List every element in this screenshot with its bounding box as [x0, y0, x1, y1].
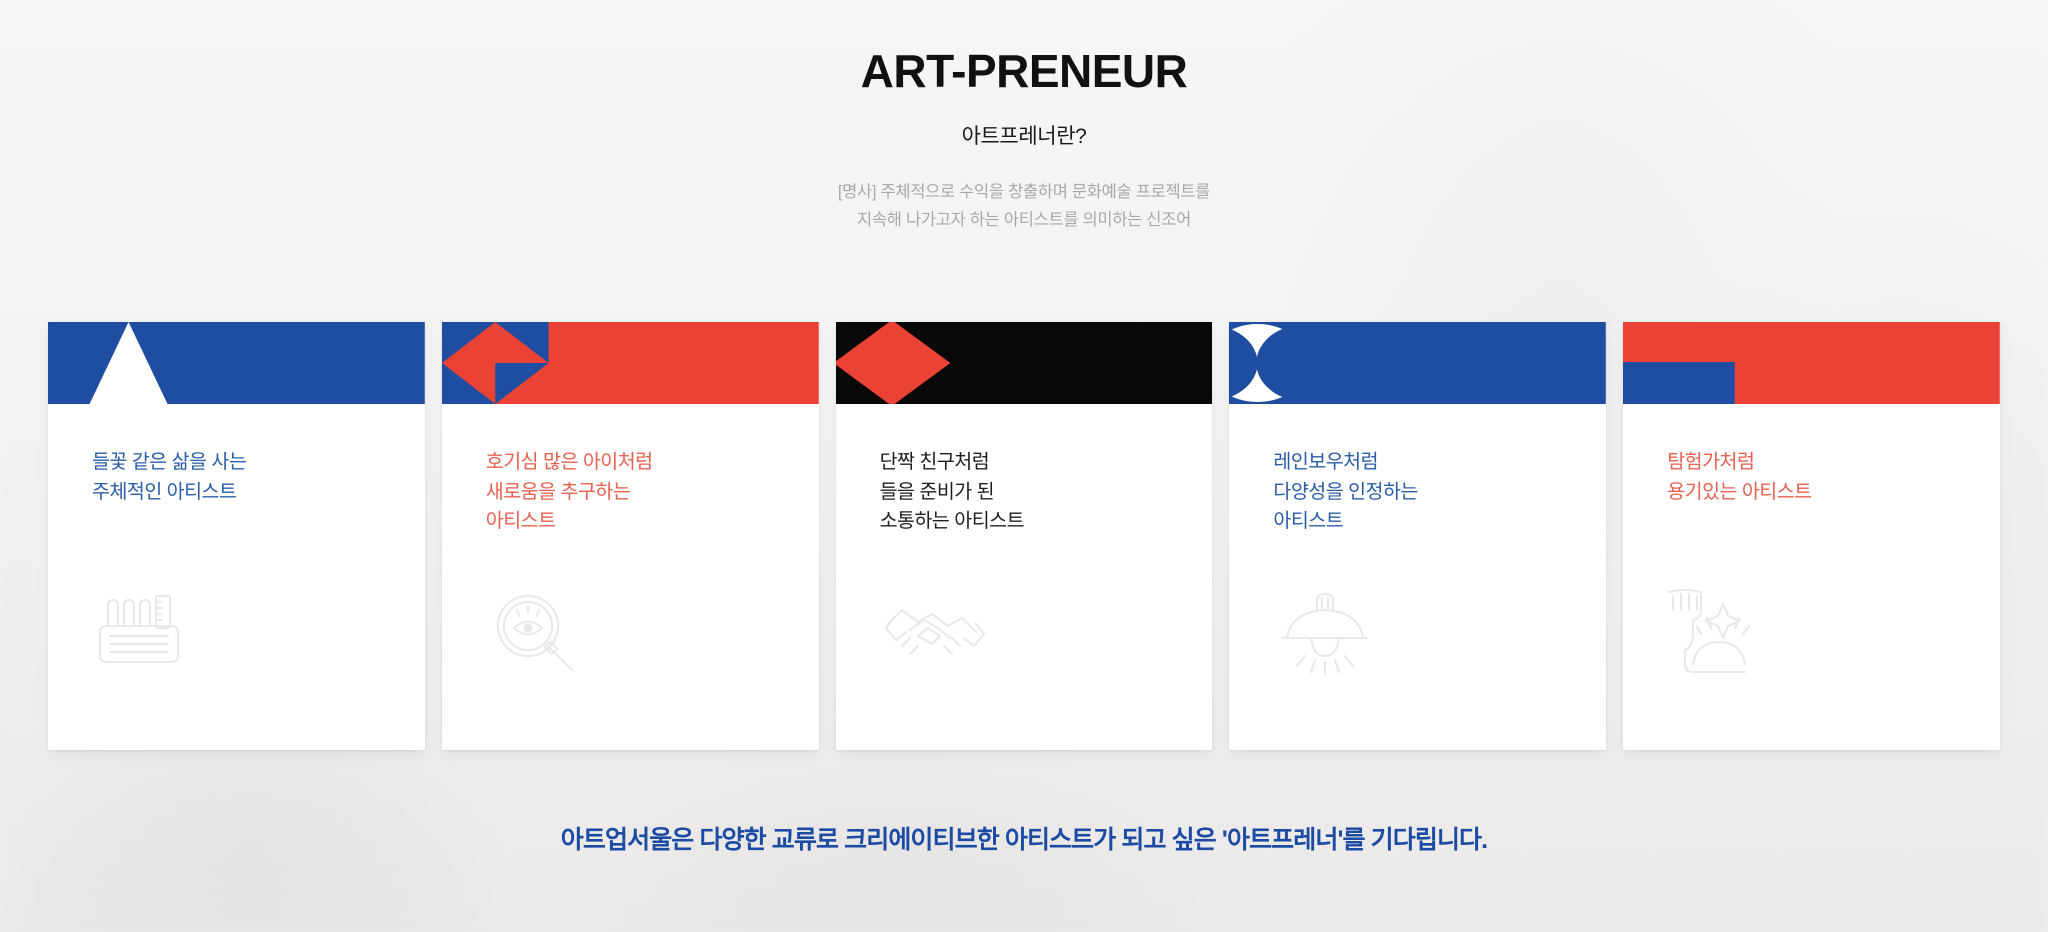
card-body: 단짝 친구처럼 들을 준비가 된 소통하는 아티스트	[836, 404, 1213, 537]
definition-line-2: 지속해 나가고자 하는 아티스트를 의미하는 신조어	[0, 206, 2048, 234]
footer-text: 아트업서울은 다양한 교류로 크리에이티브한 아티스트가 되고 싶은 '아트프레…	[0, 820, 2048, 856]
card-text: 탐험가처럼 용기있는 아티스트	[1667, 448, 1956, 507]
magnifier-eye-icon	[486, 586, 596, 678]
card-text: 들꽃 같은 삶을 사는 주체적인 아티스트	[92, 448, 381, 507]
card-banner	[442, 322, 819, 404]
page-title: ART-PRENEUR	[0, 46, 2048, 98]
card-body: 들꽃 같은 삶을 사는 주체적인 아티스트	[48, 404, 425, 507]
fist-sunrise-icon	[1667, 588, 1777, 680]
card-banner	[1623, 322, 2000, 404]
card-text: 단짝 친구처럼 들을 준비가 된 소통하는 아티스트	[880, 448, 1169, 537]
card-banner	[836, 322, 1213, 404]
card-body: 탐험가처럼 용기있는 아티스트	[1623, 404, 2000, 507]
red-pinwheel-banner-icon	[442, 322, 819, 404]
footer: 아트업서울은 다양한 교류로 크리에이티브한 아티스트가 되고 싶은 '아트프레…	[0, 820, 2048, 856]
definition-line-1: [명사] 주체적으로 수익을 창출하며 문화예술 프로젝트를	[0, 178, 2048, 206]
card-body: 레인보우처럼 다양성을 인정하는 아티스트	[1229, 404, 1606, 537]
card-explorer[interactable]: 탐험가처럼 용기있는 아티스트	[1623, 322, 2000, 750]
definition-text: [명사] 주체적으로 수익을 창출하며 문화예술 프로젝트를 지속해 나가고자 …	[0, 178, 2048, 235]
artpreneur-page: ART-PRENEUR 아트프레너란? [명사] 주체적으로 수익을 창출하며 …	[0, 0, 2048, 932]
card-grid: 들꽃 같은 삶을 사는 주체적인 아티스트	[48, 322, 2000, 750]
handshake-icon	[880, 584, 990, 676]
card-rainbow[interactable]: 레인보우처럼 다양성을 인정하는 아티스트	[1229, 322, 1606, 750]
hanging-lamp-icon	[1273, 588, 1383, 680]
red-blue-rectangle-banner-icon	[1623, 322, 2000, 404]
card-banner	[1229, 322, 1606, 404]
blue-triangle-banner-icon	[48, 322, 425, 404]
card-wildflower[interactable]: 들꽃 같은 삶을 사는 주체적인 아티스트	[48, 322, 425, 750]
page-header: ART-PRENEUR 아트프레너란? [명사] 주체적으로 수익을 창출하며 …	[0, 0, 2048, 234]
card-body: 호기심 많은 아이처럼 새로움을 추구하는 아티스트	[442, 404, 819, 537]
blue-circle-notch-banner-icon	[1229, 322, 1606, 404]
pencil-case-icon	[92, 580, 202, 672]
card-banner	[48, 322, 425, 404]
card-text: 레인보우처럼 다양성을 인정하는 아티스트	[1273, 448, 1562, 537]
card-bestfriend[interactable]: 단짝 친구처럼 들을 준비가 된 소통하는 아티스트	[836, 322, 1213, 750]
card-curious[interactable]: 호기심 많은 아이처럼 새로움을 추구하는 아티스트	[442, 322, 819, 750]
page-subtitle: 아트프레너란?	[0, 120, 2048, 150]
card-text: 호기심 많은 아이처럼 새로움을 추구하는 아티스트	[486, 448, 775, 537]
black-diamond-banner-icon	[836, 322, 1213, 404]
